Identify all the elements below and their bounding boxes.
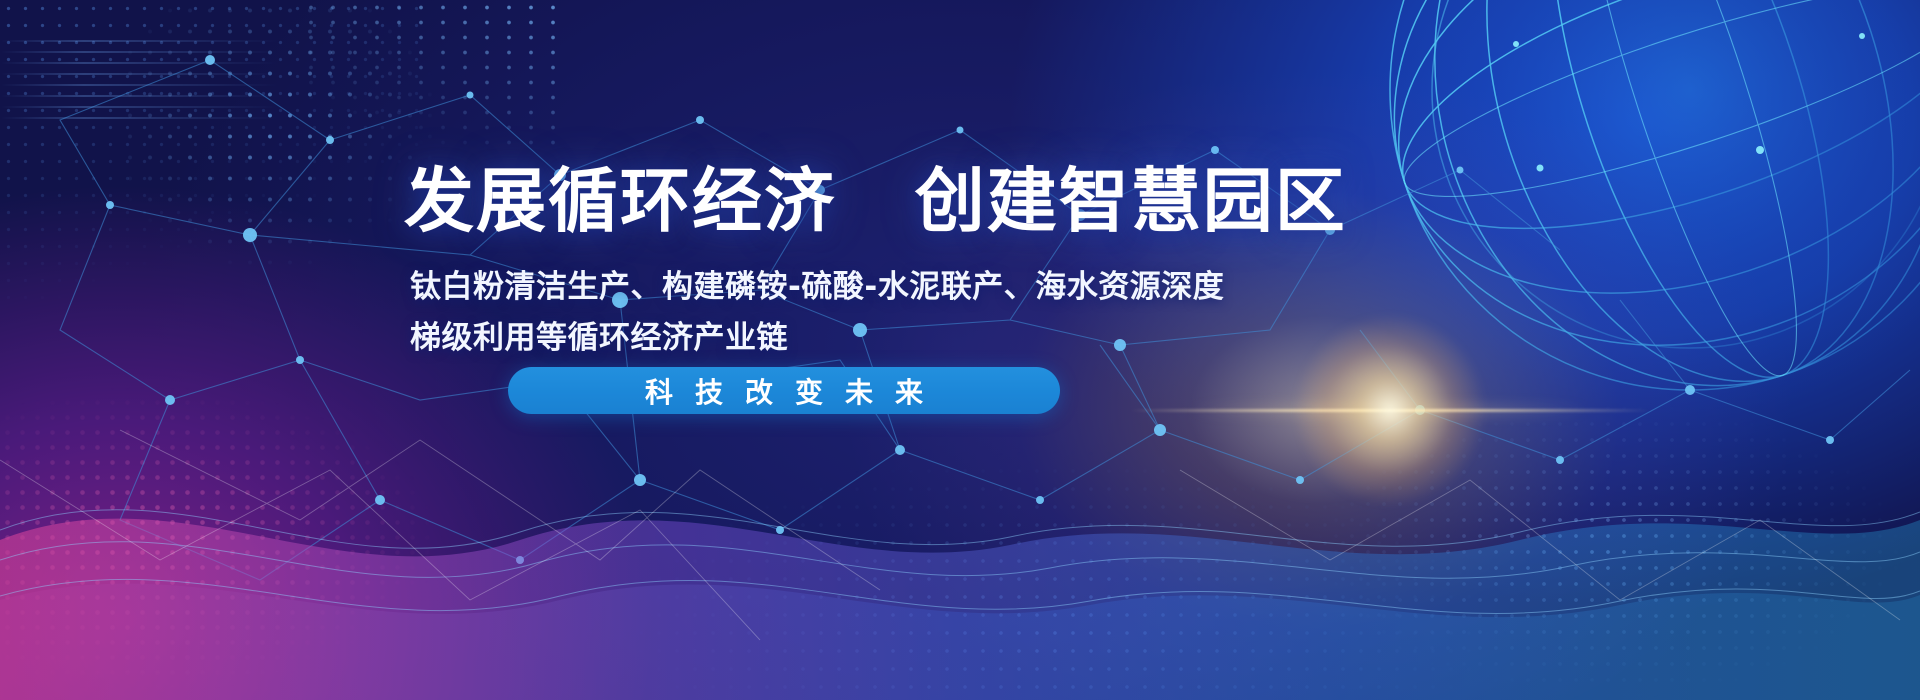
- subtitle-line-1: 钛白粉清洁生产、构建磷铵-硫酸-水泥联产、海水资源深度: [410, 262, 1190, 313]
- subtitle-line-2: 梯级利用等循环经济产业链: [410, 313, 1190, 364]
- cta-button-label: 科技改变未来: [623, 371, 945, 411]
- banner-content: 发展循环经济 创建智慧园区 钛白粉清洁生产、构建磷铵-硫酸-水泥联产、海水资源深…: [0, 0, 1920, 700]
- headline-part-right: 创建智慧园区: [915, 160, 1347, 242]
- hero-banner: 发展循环经济 创建智慧园区 钛白粉清洁生产、构建磷铵-硫酸-水泥联产、海水资源深…: [0, 0, 1920, 700]
- cta-button[interactable]: 科技改变未来: [508, 367, 1060, 414]
- subtitle: 钛白粉清洁生产、构建磷铵-硫酸-水泥联产、海水资源深度 梯级利用等循环经济产业链: [410, 262, 1190, 364]
- page-title: 发展循环经济 创建智慧园区: [404, 166, 1347, 236]
- headline-part-left: 发展循环经济: [404, 160, 836, 242]
